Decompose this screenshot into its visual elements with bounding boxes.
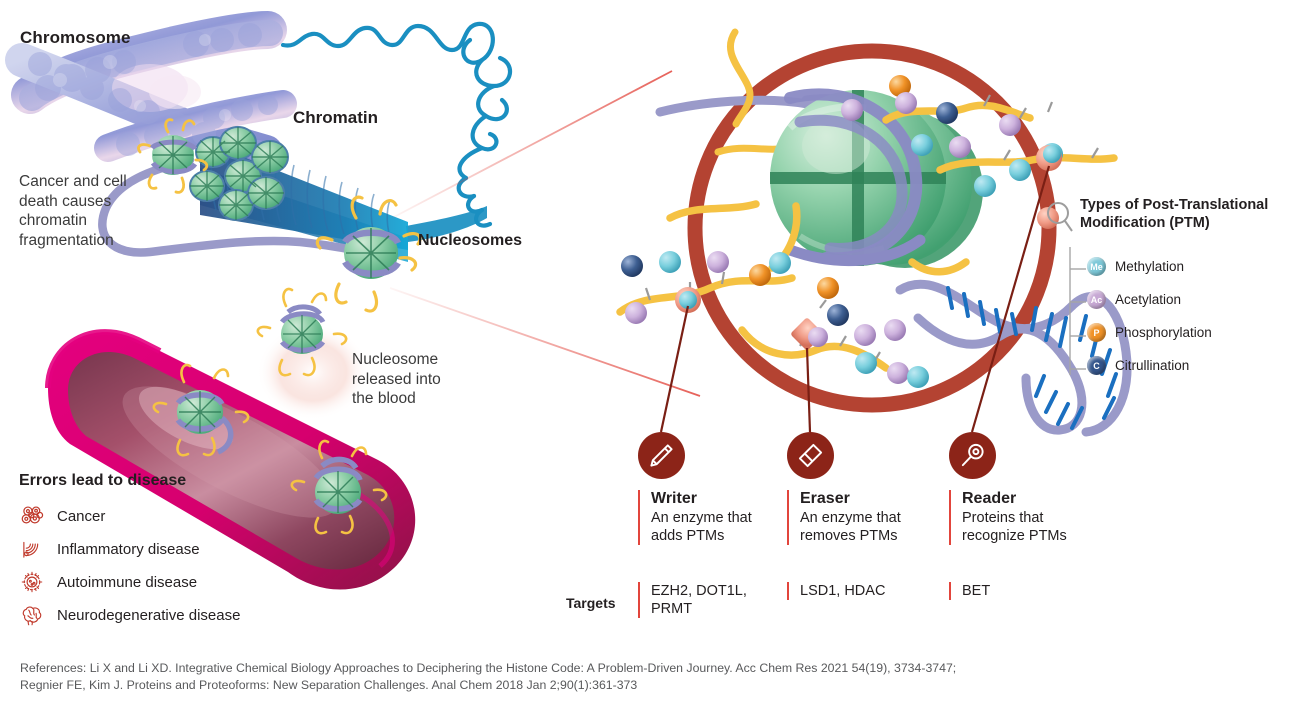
eraser-icon: [797, 442, 824, 469]
writer-eraser-reader-section: Writer An enzyme that adds PTMs EZH2, DO…: [0, 0, 1290, 714]
wer-text-block: Eraser An enzyme that removes PTMs: [787, 490, 925, 545]
wer-title: Eraser: [800, 490, 925, 508]
eraser-icon-circle: [787, 432, 834, 479]
wer-text-block: Writer An enzyme that adds PTMs: [638, 490, 771, 545]
wer-title: Reader: [962, 490, 1092, 508]
wer-title: Writer: [651, 490, 771, 508]
magnifier-search-icon-circle: [949, 432, 996, 479]
wer-text-block: Reader Proteins that recognize PTMs: [949, 490, 1092, 545]
reference-line-2: Regnier FE, Kim J. Proteins and Proteofo…: [20, 677, 1270, 694]
wer-targets: LSD1, HDAC: [787, 582, 920, 600]
wer-description: An enzyme that adds PTMs: [651, 509, 771, 545]
infographic-canvas: Chromosome Chromatin Nucleosomes Cancer …: [0, 0, 1290, 714]
wer-description: An enzyme that removes PTMs: [800, 509, 925, 545]
reference-line-1: References: Li X and Li XD. Integrative …: [20, 660, 1270, 677]
references-block: References: Li X and Li XD. Integrative …: [20, 660, 1270, 694]
wer-targets: BET: [949, 582, 1082, 600]
magnifier-search-icon: [959, 442, 986, 469]
pencil-icon: [648, 442, 675, 469]
pencil-icon-circle: [638, 432, 685, 479]
targets-row-label: Targets: [566, 595, 616, 611]
wer-description: Proteins that recognize PTMs: [962, 509, 1092, 545]
wer-targets: EZH2, DOT1L, PRMT: [638, 582, 771, 618]
